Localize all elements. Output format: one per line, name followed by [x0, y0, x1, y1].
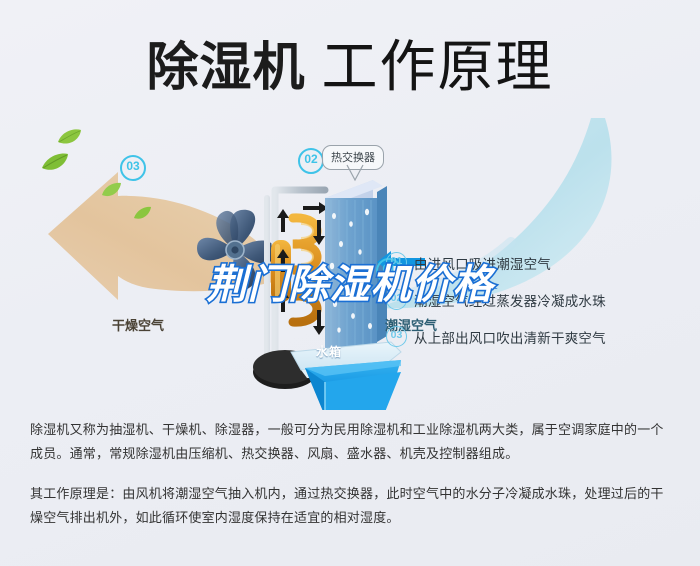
leaf-icon [56, 128, 82, 148]
step-number: 02 [386, 289, 407, 310]
step-text: 由进风口吸进潮湿空气 [414, 253, 551, 273]
list-item: 01 由进风口吸进潮湿空气 [386, 244, 686, 281]
poster-root: 除湿机工作原理 [0, 0, 700, 566]
step-list: 01 由进风口吸进潮湿空气 02 潮湿空气经过蒸发器冷凝成水珠 03 从上部出风… [386, 244, 686, 355]
page-title: 除湿机工作原理 [0, 22, 700, 103]
leaf-icon [132, 206, 152, 222]
badge-dry-air: 03 [120, 155, 146, 181]
step-text: 从上部出风口吹出清新干爽空气 [414, 327, 606, 347]
page-title-part2: 工作原理 [322, 35, 554, 98]
dry-air-label: 干燥空气 [112, 315, 164, 334]
description-block: 除湿机又称为抽湿机、干燥机、除湿器，一般可分为民用除湿机和工业除湿机两大类，属于… [30, 418, 674, 530]
water-tank [305, 360, 401, 410]
water-tank-label: 水箱 [316, 343, 342, 360]
leaf-icon [40, 152, 70, 174]
leaf-icon [100, 182, 122, 200]
page-title-part1: 除湿机 [146, 39, 305, 97]
description-paragraph-1: 除湿机又称为抽湿机、干燥机、除湿器，一般可分为民用除湿机和工业除湿机两大类，属于… [30, 418, 674, 466]
description-paragraph-2: 其工作原理是：由风机将潮湿空气抽入机内，通过热交换器，此时空气中的水分子冷凝成水… [30, 482, 674, 530]
callout-pointer-icon [344, 164, 366, 186]
condenser-coil [293, 218, 317, 322]
step-number: 03 [386, 326, 407, 347]
step-number: 01 [386, 252, 407, 273]
list-item: 03 从上部出风口吹出清新干爽空气 [386, 318, 686, 355]
list-item: 02 潮湿空气经过蒸发器冷凝成水珠 [386, 281, 686, 318]
step-text: 潮湿空气经过蒸发器冷凝成水珠 [414, 290, 606, 310]
badge-heat-exchanger: 02 [298, 148, 324, 174]
